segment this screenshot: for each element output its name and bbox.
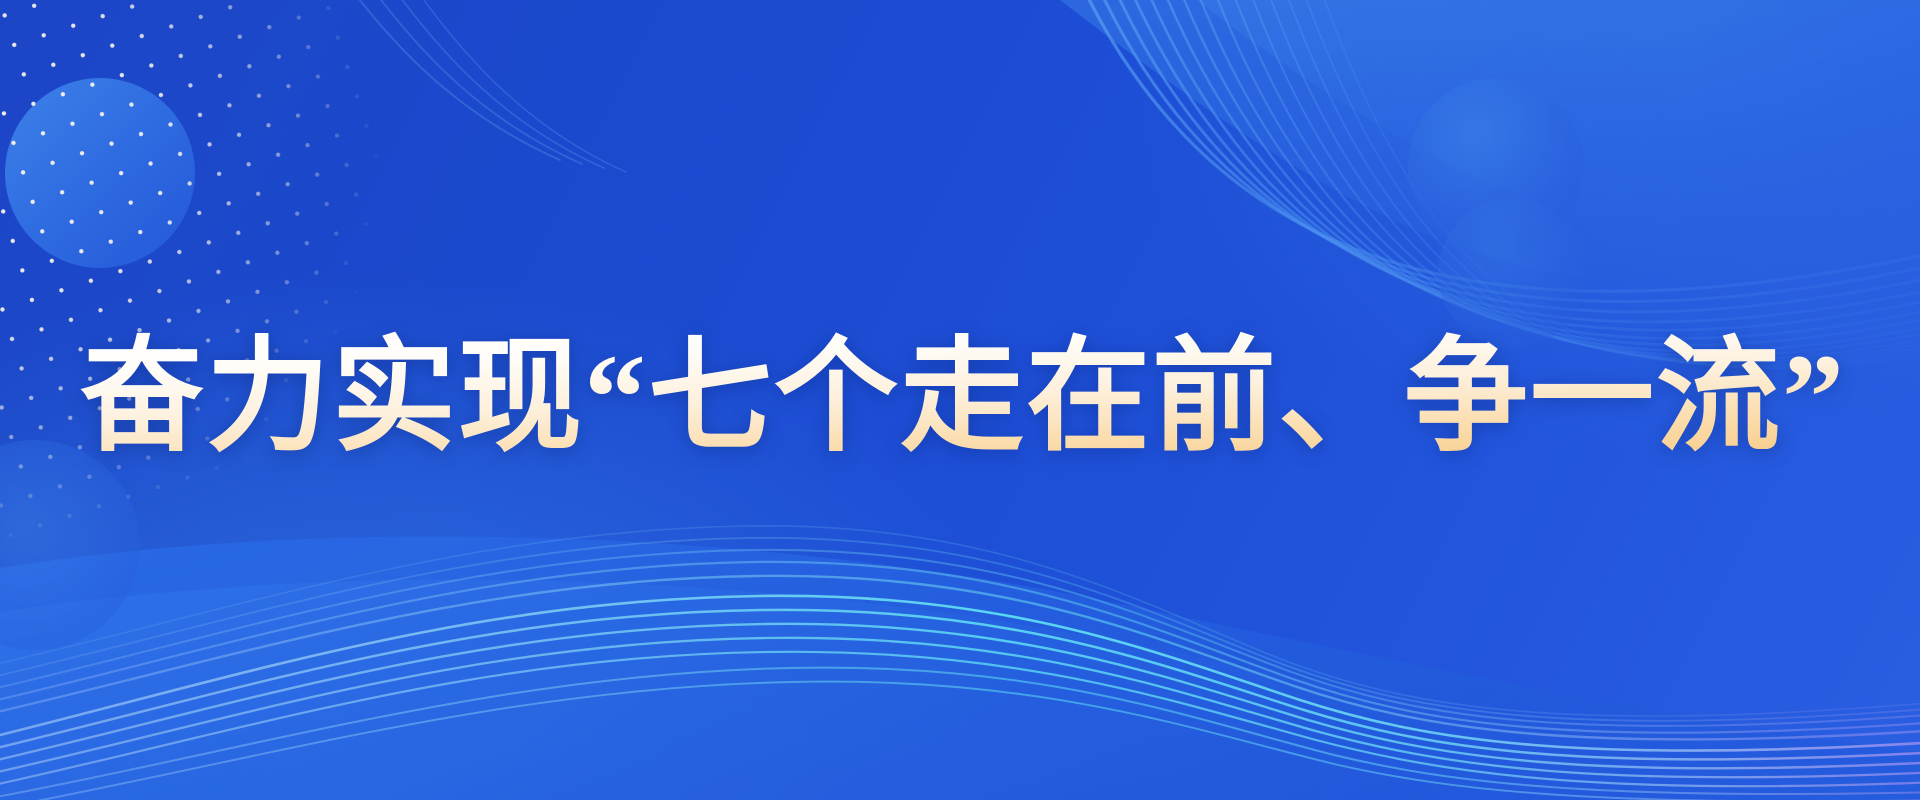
background-wave-lines	[0, 0, 1920, 800]
hero-banner: 奋力实现“七个走在前、争一流”	[0, 0, 1920, 800]
